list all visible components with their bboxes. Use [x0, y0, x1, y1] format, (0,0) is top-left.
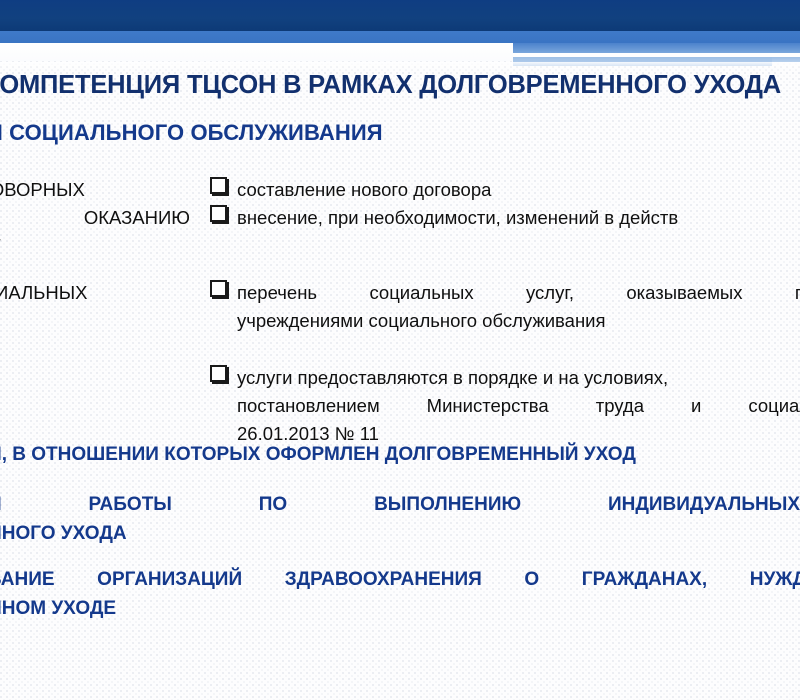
- lead-label-column: СОЦИАЛЬНЫХ: [0, 279, 190, 307]
- section-heading-line: Я РАБОТЫ ПО ВЫПОЛНЕНИЮ ИНДИВИДУАЛЬНЫХ: [0, 490, 800, 519]
- header-blue-right-band: [513, 43, 800, 53]
- hollow-square-bullet-icon: [210, 365, 227, 382]
- lead-label-line: СЛУГ: [0, 232, 190, 260]
- list-item-text: постановлением Министерства труда и соци…: [237, 392, 800, 420]
- section-heading: ВАНИЕ ОРГАНИЗАЦИЙ ЗДРАВООХРАНЕНИЯ О ГРАЖ…: [0, 565, 800, 623]
- presentation-slide: КОМПЕТЕНЦИЯ ТЦСОН В РАМКАХ ДОЛГОВРЕМЕННО…: [0, 0, 800, 700]
- lead-label-line: ДОГОВОРНЫХ: [0, 176, 190, 204]
- list-item: внесение, при необходимости, изменений в…: [210, 204, 800, 232]
- list-item-text: услуги предоставляются в порядке и на ус…: [237, 364, 800, 392]
- list-item-text: составление нового договора: [237, 176, 800, 204]
- hollow-square-bullet-icon: [210, 177, 227, 194]
- bullet-list: перечень социальных услуг, оказываемых г…: [210, 279, 800, 448]
- section-heading: Н, В ОТНОШЕНИИ КОТОРЫХ ОФОРМЛЕН ДОЛГОВРЕ…: [0, 440, 800, 469]
- section-heading-line: ВАНИЕ ОРГАНИЗАЦИЙ ЗДРАВООХРАНЕНИЯ О ГРАЖ…: [0, 565, 800, 594]
- lead-label-line: СОЦИАЛЬНЫХ: [0, 279, 190, 307]
- list-item-text: перечень социальных услуг, оказываемых г…: [237, 279, 800, 307]
- content-row: ДОГОВОРНЫХ О ОКАЗАНИЮ СЛУГ составление н…: [0, 176, 800, 260]
- list-item-text: внесение, при необходимости, изменений в…: [237, 204, 800, 232]
- section-heading-line: ННОГО УХОДА: [0, 519, 800, 548]
- list-item: составление нового договора: [210, 176, 800, 204]
- bullet-list: составление нового договора внесение, пр…: [210, 176, 800, 232]
- hollow-square-bullet-icon: [210, 205, 227, 222]
- header-blue-band: [0, 31, 800, 43]
- lead-label-line: О ОКАЗАНИЮ: [0, 204, 190, 232]
- header-navy-band: [0, 0, 800, 31]
- header-fade-overlay: [0, 62, 800, 70]
- content-row: СОЦИАЛЬНЫХ перечень социальных услуг, ок…: [0, 279, 800, 448]
- list-item: услуги предоставляются в порядке и на ус…: [210, 364, 800, 448]
- header-white-left-block: [0, 43, 513, 61]
- section-heading: Я РАБОТЫ ПО ВЫПОЛНЕНИЮ ИНДИВИДУАЛЬНЫХ НН…: [0, 490, 800, 548]
- list-item: перечень социальных услуг, оказываемых г…: [210, 279, 800, 335]
- slide-title: КОМПЕТЕНЦИЯ ТЦСОН В РАМКАХ ДОЛГОВРЕМЕННО…: [0, 70, 781, 100]
- hollow-square-bullet-icon: [210, 280, 227, 297]
- slide-subtitle: Я СОЦИАЛЬНОГО ОБСЛУЖИВАНИЯ: [0, 119, 383, 147]
- list-item-text: учреждениями социального обслуживания: [237, 307, 800, 335]
- section-heading-line: ННОМ УХОДЕ: [0, 594, 800, 623]
- lead-label-column: ДОГОВОРНЫХ О ОКАЗАНИЮ СЛУГ: [0, 176, 190, 260]
